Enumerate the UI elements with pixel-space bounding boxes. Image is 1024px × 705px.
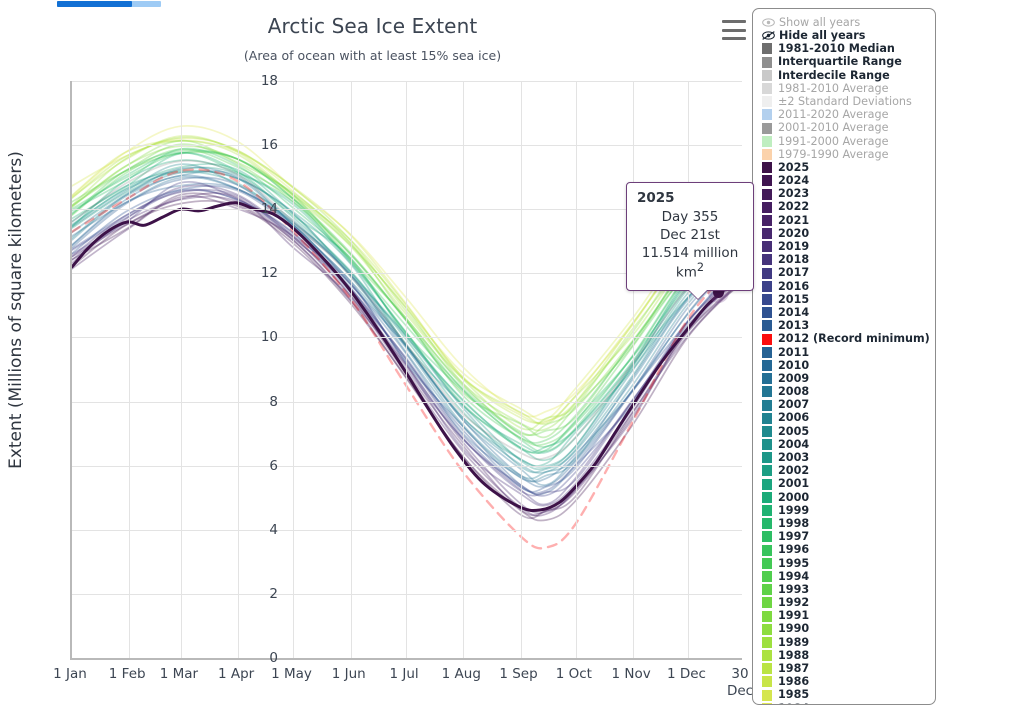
legend-item-label: 2024	[778, 175, 809, 187]
legend-item-statistic[interactable]: Interquartile Range	[762, 56, 935, 69]
legend-item-label: 1981-2010 Median	[778, 43, 895, 55]
legend-color-swatch	[762, 690, 772, 701]
legend-item-label: 2019	[778, 241, 809, 253]
legend-item-label: 2015	[778, 294, 809, 306]
legend-item-label: 1997	[778, 531, 809, 543]
hamburger-menu-icon[interactable]	[722, 20, 746, 40]
page-load-progress-fill	[57, 1, 132, 7]
grid-line-vertical	[688, 81, 689, 658]
eye-slash-icon	[762, 30, 775, 41]
legend-item-year[interactable]: 1989	[762, 636, 935, 649]
legend-item-year[interactable]: 2016	[762, 280, 935, 293]
legend-color-swatch	[762, 558, 772, 569]
legend-item-year[interactable]: 2003	[762, 451, 935, 464]
legend-color-swatch	[762, 452, 772, 463]
grid-line-vertical	[181, 81, 182, 658]
legend-color-swatch	[762, 624, 772, 635]
legend-item-year[interactable]: 2022	[762, 201, 935, 214]
legend-control-label: Show all years	[779, 17, 860, 29]
legend-item-year[interactable]: 1986	[762, 675, 935, 688]
legend-color-swatch	[762, 347, 772, 358]
legend-color-swatch	[762, 320, 772, 331]
legend-color-swatch	[762, 268, 772, 279]
legend-item-label: 2001-2010 Average	[778, 122, 888, 134]
page-load-progress-track	[57, 1, 161, 7]
grid-line-vertical	[576, 81, 577, 658]
legend-color-swatch	[762, 479, 772, 490]
legend-control-label: Hide all years	[779, 30, 865, 42]
chart-subtitle: (Area of ocean with at least 15% sea ice…	[0, 48, 745, 63]
legend-color-swatch	[762, 373, 772, 384]
legend-item-statistic[interactable]: 1991-2000 Average	[762, 135, 935, 148]
legend-item-label: 2016	[778, 281, 809, 293]
legend-item-label: 1981-2010 Average	[778, 83, 888, 95]
legend-item-label: 2012 (Record minimum)	[778, 333, 930, 345]
legend-color-swatch	[762, 202, 772, 213]
tooltip-arrow	[689, 290, 707, 299]
legend-item-label: 2004	[778, 439, 809, 451]
legend-item-label: 2001	[778, 478, 809, 490]
legend-color-swatch	[762, 70, 772, 81]
legend-item-label: ±2 Standard Deviations	[778, 96, 912, 108]
legend-item-label: 2005	[778, 426, 809, 438]
data-point-tooltip: 2025 Day 355 Dec 21st 11.514 million km2	[626, 182, 754, 291]
legend-item-year[interactable]: 2005	[762, 425, 935, 438]
grid-line-vertical	[521, 81, 522, 658]
legend-item-label: 1987	[778, 663, 809, 675]
legend-item-label: 1996	[778, 544, 809, 556]
legend-item-statistic[interactable]: 2001-2010 Average	[762, 122, 935, 135]
legend-item-label: Interdecile Range	[778, 70, 890, 82]
legend-item-label: Interquartile Range	[778, 56, 902, 68]
legend-color-swatch	[762, 189, 772, 200]
legend-item-year[interactable]: 1985	[762, 689, 935, 702]
legend-color-swatch	[762, 439, 772, 450]
legend-item-year[interactable]: 2019	[762, 240, 935, 253]
tooltip-value-superscript: 2	[697, 261, 704, 274]
legend-item-statistic[interactable]: Interdecile Range	[762, 69, 935, 82]
legend-color-swatch	[762, 400, 772, 411]
legend-item-label: 1998	[778, 518, 809, 530]
legend-item-year[interactable]: 2002	[762, 464, 935, 477]
legend-item-label: 1992	[778, 597, 809, 609]
legend-color-swatch	[762, 597, 772, 608]
legend-item-year[interactable]: 1996	[762, 544, 935, 557]
legend-item-label: 1994	[778, 571, 809, 583]
tooltip-value-text: 11.514 million km	[642, 245, 739, 281]
legend-item-year[interactable]: 1988	[762, 649, 935, 662]
x-axis-tick-label: 1 Apr	[218, 666, 254, 683]
legend-item-label: 1986	[778, 676, 809, 688]
grid-line-vertical	[406, 81, 407, 658]
chart-legend-panel[interactable]: Show all yearsHide all years1981-2010 Me…	[752, 8, 936, 705]
legend-item-statistic[interactable]: ±2 Standard Deviations	[762, 95, 935, 108]
legend-item-year[interactable]: 2004	[762, 438, 935, 451]
legend-color-swatch	[762, 281, 772, 292]
legend-item-year[interactable]: 1997	[762, 530, 935, 543]
legend-item-year[interactable]: 2010	[762, 359, 935, 372]
legend-item-year[interactable]: 2012 (Record minimum)	[762, 333, 935, 346]
legend-item-year[interactable]: 2000	[762, 491, 935, 504]
grid-line-vertical	[463, 81, 464, 658]
legend-item-year[interactable]: 1994	[762, 570, 935, 583]
legend-item-year[interactable]: 2009	[762, 372, 935, 385]
legend-color-swatch	[762, 175, 772, 186]
legend-item-year[interactable]: 2014	[762, 306, 935, 319]
legend-item-year[interactable]: 2018	[762, 253, 935, 266]
legend-item-year[interactable]: 1993	[762, 583, 935, 596]
legend-item-label: 2003	[778, 452, 809, 464]
grid-line-vertical	[238, 81, 239, 658]
legend-color-swatch	[762, 545, 772, 556]
legend-color-swatch	[762, 571, 772, 582]
legend-item-label: 1999	[778, 505, 809, 517]
legend-control-show-all-years[interactable]: Show all years	[762, 16, 935, 29]
legend-item-year[interactable]: 2013	[762, 319, 935, 332]
legend-color-swatch	[762, 136, 772, 147]
legend-item-label: 1991-2000 Average	[778, 136, 888, 148]
legend-item-year[interactable]: 2015	[762, 293, 935, 306]
legend-color-swatch	[762, 43, 772, 54]
legend-item-year[interactable]: 1991	[762, 609, 935, 622]
legend-item-year[interactable]: 2024	[762, 174, 935, 187]
legend-item-label: 1988	[778, 650, 809, 662]
legend-item-label: 1985	[778, 689, 809, 701]
legend-color-swatch	[762, 96, 772, 107]
legend-item-statistic[interactable]: 1981-2010 Median	[762, 42, 935, 55]
legend-item-label: 2025	[778, 162, 809, 174]
legend-color-swatch	[762, 584, 772, 595]
legend-item-label: 2002	[778, 465, 809, 477]
legend-item-statistic[interactable]: 1981-2010 Average	[762, 82, 935, 95]
legend-color-swatch	[762, 162, 772, 173]
legend-item-label: 1995	[778, 558, 809, 570]
y-axis-label: Extent (Millions of square kilometers)	[6, 30, 26, 590]
x-axis-tick-label: 1 Jul	[389, 666, 418, 683]
legend-item-year[interactable]: 2020	[762, 227, 935, 240]
x-axis-tick-label: 1 May	[271, 666, 312, 683]
legend-item-year[interactable]: 1999	[762, 504, 935, 517]
x-axis-tick-label: 1 Oct	[556, 666, 592, 683]
legend-item-label: 2014	[778, 307, 809, 319]
legend-color-swatch	[762, 334, 772, 345]
legend-color-swatch	[762, 637, 772, 648]
legend-color-swatch	[762, 123, 772, 134]
legend-item-year[interactable]: 2025	[762, 161, 935, 174]
legend-item-year[interactable]: 2021	[762, 214, 935, 227]
legend-item-year[interactable]: 1987	[762, 662, 935, 675]
legend-color-swatch	[762, 215, 772, 226]
legend-item-year[interactable]: 2011	[762, 346, 935, 359]
legend-item-label: 2013	[778, 320, 809, 332]
legend-item-label: 2011-2020 Average	[778, 109, 888, 121]
x-axis-tick-label: 1 Dec	[667, 666, 706, 683]
legend-color-swatch	[762, 294, 772, 305]
legend-item-label: 2007	[778, 399, 809, 411]
grid-line-vertical	[293, 81, 294, 658]
legend-color-swatch	[762, 57, 772, 68]
grid-line-vertical	[633, 81, 634, 658]
legend-item-label: 1993	[778, 584, 809, 596]
legend-color-swatch	[762, 149, 772, 160]
legend-item-statistic[interactable]: 1979-1990 Average	[762, 148, 935, 161]
legend-color-swatch	[762, 505, 772, 516]
legend-item-year[interactable]: 2007	[762, 398, 935, 411]
legend-item-label: 2008	[778, 386, 809, 398]
chart-title: Arctic Sea Ice Extent	[0, 14, 745, 38]
legend-item-label: 2009	[778, 373, 809, 385]
x-axis-tick-label: 1 Feb	[109, 666, 146, 683]
legend-item-label: 2021	[778, 215, 809, 227]
tooltip-date: Dec 21st	[637, 227, 743, 243]
legend-item-label: 2010	[778, 360, 809, 372]
legend-item-label: 2006	[778, 412, 809, 424]
legend-color-swatch	[762, 650, 772, 661]
legend-color-swatch	[762, 109, 772, 120]
x-axis-tick-label: 1 Nov	[611, 666, 650, 683]
legend-item-year[interactable]: 1990	[762, 623, 935, 636]
legend-color-swatch	[762, 360, 772, 371]
legend-control-hide-all-years[interactable]: Hide all years	[762, 29, 935, 42]
legend-color-swatch	[762, 531, 772, 542]
x-axis-tick-label: 1 Mar	[160, 666, 198, 683]
legend-color-swatch	[762, 413, 772, 424]
legend-item-label: 2020	[778, 228, 809, 240]
legend-item-label: 2011	[778, 347, 809, 359]
legend-color-swatch	[762, 83, 772, 94]
legend-item-label: 2000	[778, 492, 809, 504]
legend-color-swatch	[762, 241, 772, 252]
chart-canvas	[72, 81, 742, 658]
chart-plot-area[interactable]	[70, 81, 742, 660]
legend-color-swatch	[762, 676, 772, 687]
x-axis-tick-label: 1 Jan	[53, 666, 87, 683]
legend-item-label: 2023	[778, 188, 809, 200]
legend-color-swatch	[762, 465, 772, 476]
legend-color-swatch	[762, 228, 772, 239]
legend-item-year[interactable]: 2006	[762, 412, 935, 425]
legend-item-label: 1991	[778, 610, 809, 622]
legend-color-swatch	[762, 611, 772, 622]
tooltip-year: 2025	[637, 190, 743, 206]
legend-item-year[interactable]: 2001	[762, 478, 935, 491]
legend-color-swatch	[762, 663, 772, 674]
tooltip-day: Day 355	[637, 209, 743, 225]
legend-color-swatch	[762, 307, 772, 318]
x-axis-tick-label: 1 Aug	[442, 666, 481, 683]
legend-color-swatch	[762, 492, 772, 503]
x-axis-tick-label: 1 Sep	[499, 666, 537, 683]
legend-item-label: 2022	[778, 201, 809, 213]
legend-item-year[interactable]: 2017	[762, 267, 935, 280]
tooltip-value: 11.514 million km2	[637, 245, 743, 281]
legend-color-swatch	[762, 518, 772, 529]
legend-color-swatch	[762, 426, 772, 437]
legend-color-swatch	[762, 386, 772, 397]
eye-icon	[762, 17, 775, 28]
grid-line-vertical	[351, 81, 352, 658]
x-axis-tick-label: 1 Jun	[332, 666, 366, 683]
legend-item-year[interactable]: 2008	[762, 385, 935, 398]
legend-item-year[interactable]: 1998	[762, 517, 935, 530]
legend-item-year[interactable]: 1995	[762, 557, 935, 570]
legend-color-swatch	[762, 254, 772, 265]
legend-item-label: 1990	[778, 623, 809, 635]
x-axis-tick-label: 30Dec	[727, 666, 753, 700]
legend-item-label: 2018	[778, 254, 809, 266]
legend-item-statistic[interactable]: 2011-2020 Average	[762, 108, 935, 121]
legend-item-year[interactable]: 2023	[762, 187, 935, 200]
legend-item-label: 1979-1990 Average	[778, 149, 888, 161]
legend-item-year[interactable]: 1992	[762, 596, 935, 609]
grid-line-vertical	[129, 81, 130, 658]
legend-item-label: 2017	[778, 267, 809, 279]
legend-item-label: 1989	[778, 637, 809, 649]
